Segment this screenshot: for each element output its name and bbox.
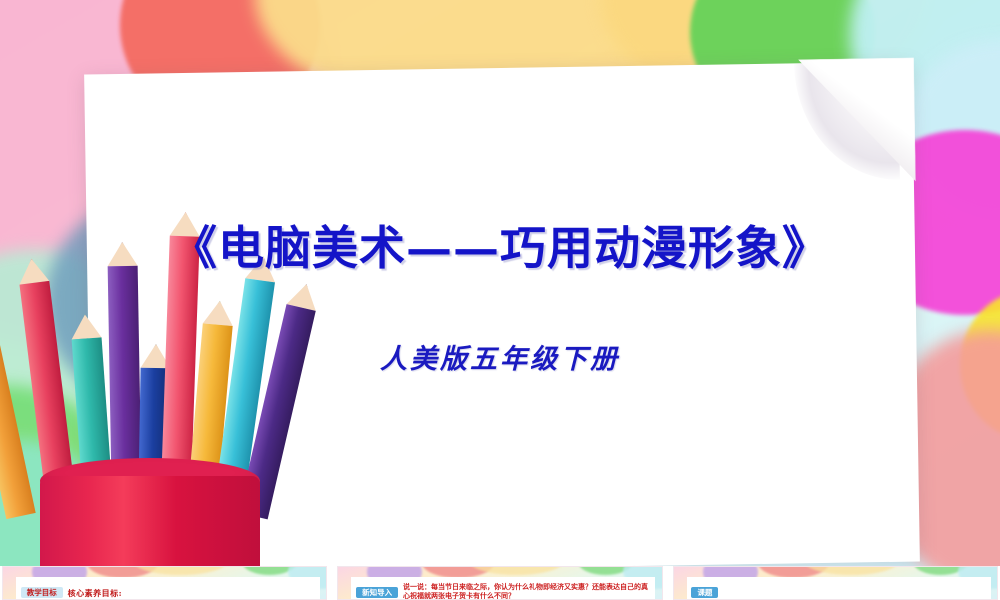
main-slide[interactable]: 《电脑美术——巧用动漫形象》 人美版五年级下册	[0, 0, 1000, 566]
thumb-badge-label: 新知导入	[356, 587, 398, 598]
pencil-cup-body	[40, 476, 260, 566]
thumb-badge-label: 课题	[691, 587, 718, 598]
slide-thumbnail-teaching-objectives[interactable]: 教学目标 核心素养目标:	[2, 566, 327, 600]
thumb-paragraph-text: 说一说：每当节日来临之际，你认为什么礼物即经济又实惠？还能表达自己的真心祝福就两…	[403, 582, 649, 600]
presentation-stage: 《电脑美术——巧用动漫形象》 人美版五年级下册 教学目标 核心素养目标: 新知导…	[0, 0, 1000, 600]
thumb-paper	[687, 577, 991, 600]
thumb-badge-label: 教学目标	[21, 587, 63, 598]
slide-thumbnail-new-knowledge[interactable]: 新知导入 说一说：每当节日来临之际，你认为什么礼物即经济又实惠？还能表达自己的真…	[337, 566, 662, 600]
page-subtitle: 人美版五年级下册	[0, 337, 1000, 376]
thumbnail-strip[interactable]: 教学目标 核心素养目标: 新知导入 说一说：每当节日来临之际，你认为什么礼物即经…	[0, 566, 1000, 600]
thumb-heading-text: 核心素养目标:	[68, 588, 122, 599]
page-title: 《电脑美术——巧用动漫形象》	[0, 212, 1000, 278]
slide-thumbnail-lesson-topic[interactable]: 课题	[673, 566, 998, 600]
